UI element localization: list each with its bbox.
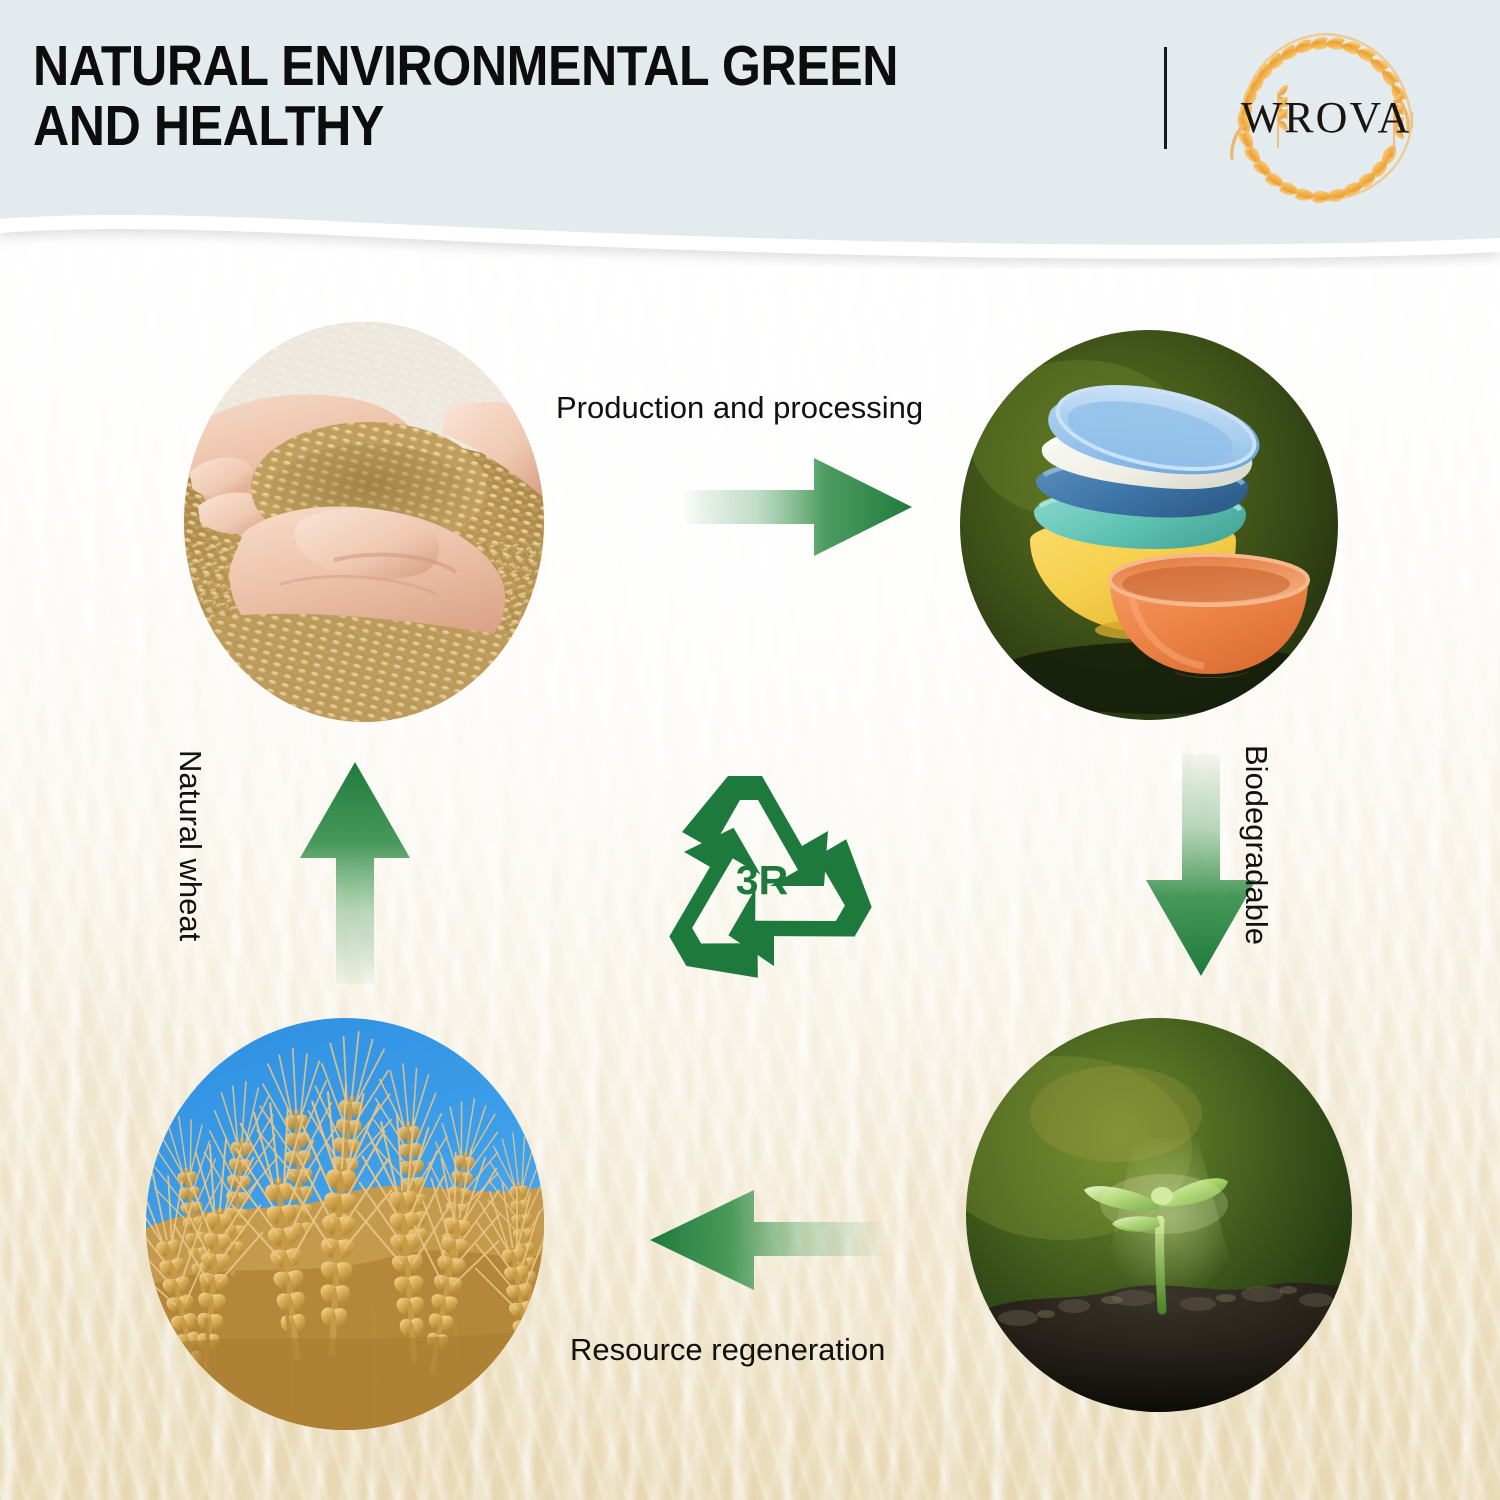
brand-name: WROVA	[1216, 92, 1436, 143]
arrow-left-resource	[650, 1186, 884, 1294]
photo-hands-holding-grain	[184, 322, 544, 722]
page-title: NATURAL ENVIRONMENTAL GREEN AND HEALTHY	[33, 36, 992, 156]
header-divider	[1164, 47, 1167, 149]
label-biodegradable: Biodegradable	[1239, 745, 1273, 945]
photo-seedling	[966, 1018, 1352, 1412]
photo-wheat-ears	[146, 1018, 544, 1430]
arrow-up-natural-wheat	[296, 762, 416, 984]
photo-stacked-bowls	[960, 330, 1338, 720]
label-production-and-processing: Production and processing	[556, 391, 923, 425]
label-natural-wheat: Natural wheat	[173, 750, 207, 941]
label-resource-regeneration: Resource regeneration	[570, 1333, 885, 1367]
arrow-right-production	[684, 452, 912, 562]
recycle-label: 3R	[628, 857, 896, 904]
brand-logo: WROVA	[1216, 16, 1436, 216]
infographic-page: NATURAL ENVIRONMENTAL GREEN AND HEALTHY	[0, 0, 1500, 1500]
recycle-symbol: 3R	[628, 754, 896, 1012]
